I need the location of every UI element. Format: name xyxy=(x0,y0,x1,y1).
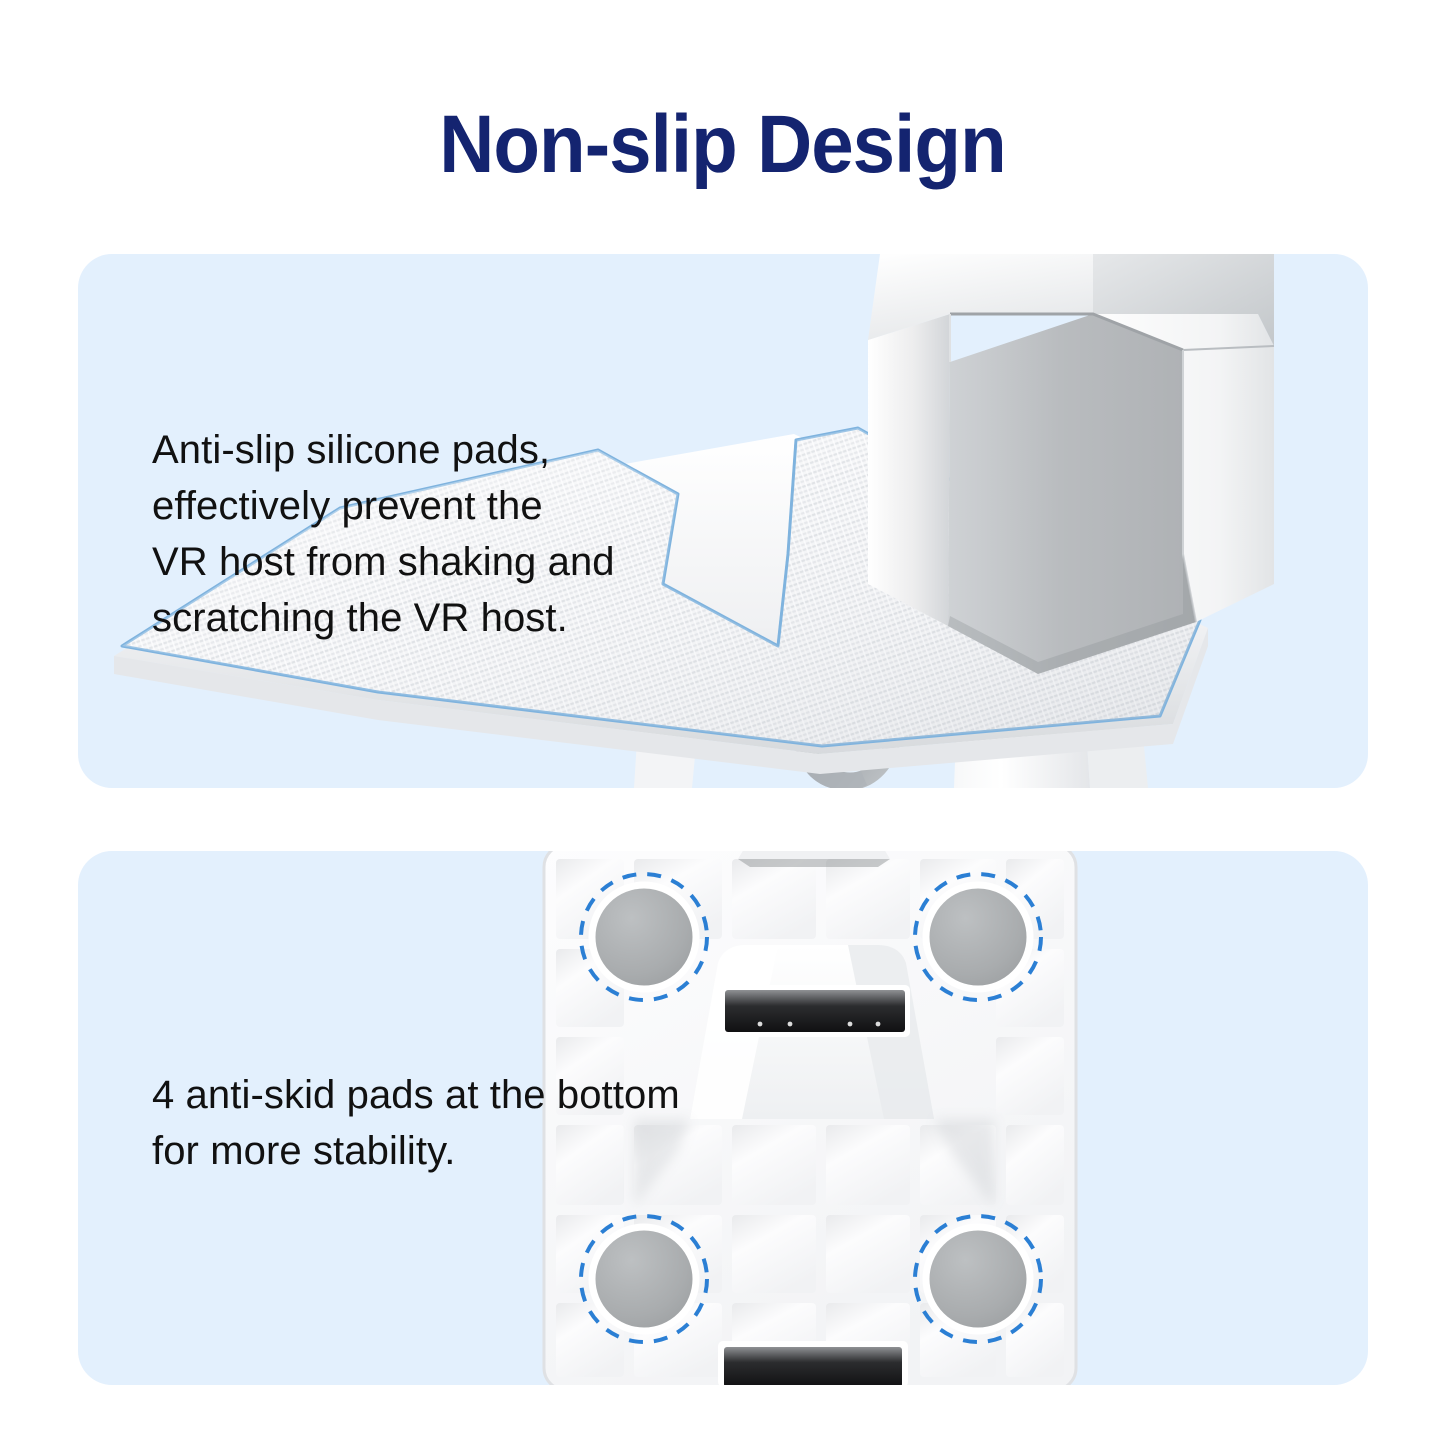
feature-panel-silicone-pad: Anti-slip silicone pads, effectively pre… xyxy=(78,254,1368,788)
base-cable-slot-bottom xyxy=(718,1341,908,1385)
panel-1-description: Anti-slip silicone pads, effectively pre… xyxy=(152,422,712,646)
panel-2-description: 4 anti-skid pads at the bottom for more … xyxy=(152,1067,772,1179)
base-cable-slot-top xyxy=(720,985,910,1037)
page-title: Non-slip Design xyxy=(51,96,1395,194)
base-post-stub-top xyxy=(738,851,890,867)
feature-panel-antiskid-pads: 4 anti-skid pads at the bottom for more … xyxy=(78,851,1368,1385)
stand-vertical-post xyxy=(868,254,1274,674)
